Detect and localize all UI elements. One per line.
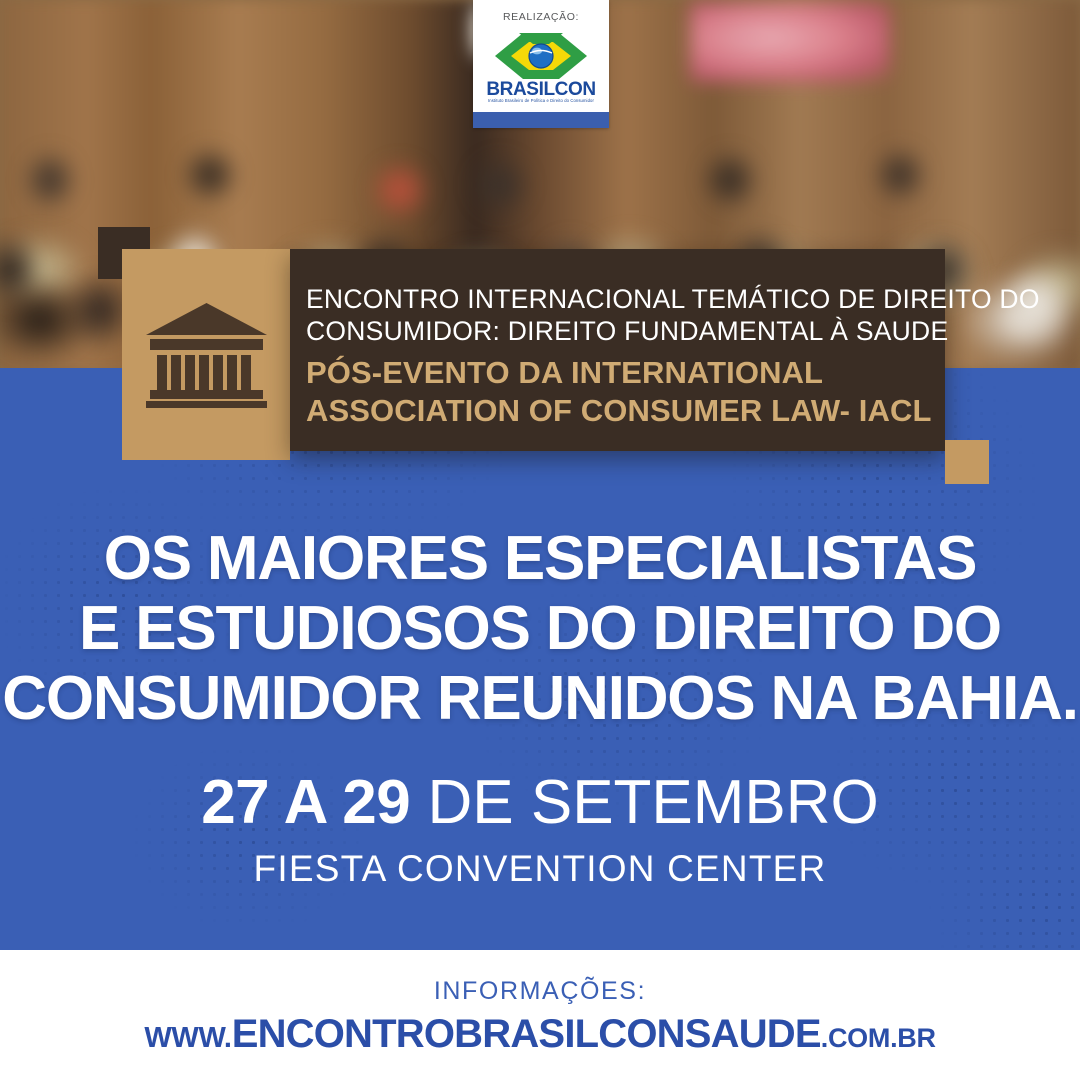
photo-stage-screen — [690, 2, 890, 82]
classical-courthouse-icon — [141, 297, 272, 409]
event-poster: REALIZAÇÃO: BRASILCON Instituto Brasilei… — [0, 0, 1080, 1080]
url-domain: ENCONTROBRASILCONSAUDE — [232, 1012, 821, 1056]
realizacao-label: REALIZAÇÃO: — [473, 11, 609, 23]
event-title-line-2: CONSUMIDOR: DIREITO FUNDAMENTAL À SAUDE — [306, 315, 936, 347]
event-title: ENCONTRO INTERNACIONAL TEMÁTICO DE DIREI… — [306, 283, 936, 430]
event-title-line-4: ASSOCIATION OF CONSUMER LAW- IACL — [306, 392, 936, 430]
url-tld: .COM.BR — [821, 1023, 936, 1053]
footer-bar: INFORMAÇÕES: WWW.ENCONTROBRASILCONSAUDE.… — [0, 950, 1080, 1080]
realizacao-logo-card: REALIZAÇÃO: BRASILCON Instituto Brasilei… — [473, 0, 609, 128]
brasilcon-tagline: Instituto Brasileiro de Política e Direi… — [473, 98, 609, 103]
headline-line-2: E ESTUDIOSOS DO DIREITO DO — [0, 594, 1080, 664]
event-venue: FIESTA CONVENTION CENTER — [0, 848, 1080, 890]
info-label: INFORMAÇÕES: — [0, 977, 1080, 1006]
headline-line-1: OS MAIORES ESPECIALISTAS — [0, 524, 1080, 594]
brazil-flag-globe-icon — [489, 30, 593, 82]
decorative-gold-square — [945, 440, 989, 484]
event-month: DE SETEMBRO — [410, 768, 879, 837]
event-title-line-3: PÓS-EVENTO DA INTERNATIONAL — [306, 354, 936, 392]
brasilcon-wordmark: BRASILCON — [473, 80, 609, 99]
main-headline: OS MAIORES ESPECIALISTAS E ESTUDIOSOS DO… — [0, 524, 1080, 734]
website-url[interactable]: WWW.ENCONTROBRASILCONSAUDE.COM.BR — [0, 1014, 1080, 1054]
event-dates: 27 A 29 — [201, 768, 410, 837]
headline-line-3: CONSUMIDOR REUNIDOS NA BAHIA. — [0, 664, 1080, 734]
logo-card-blue-strip — [473, 112, 609, 128]
url-www-prefix: WWW. — [144, 1022, 231, 1054]
event-dateline: 27 A 29 DE SETEMBRO — [0, 772, 1080, 834]
event-title-line-1: ENCONTRO INTERNACIONAL TEMÁTICO DE DIREI… — [306, 283, 936, 315]
